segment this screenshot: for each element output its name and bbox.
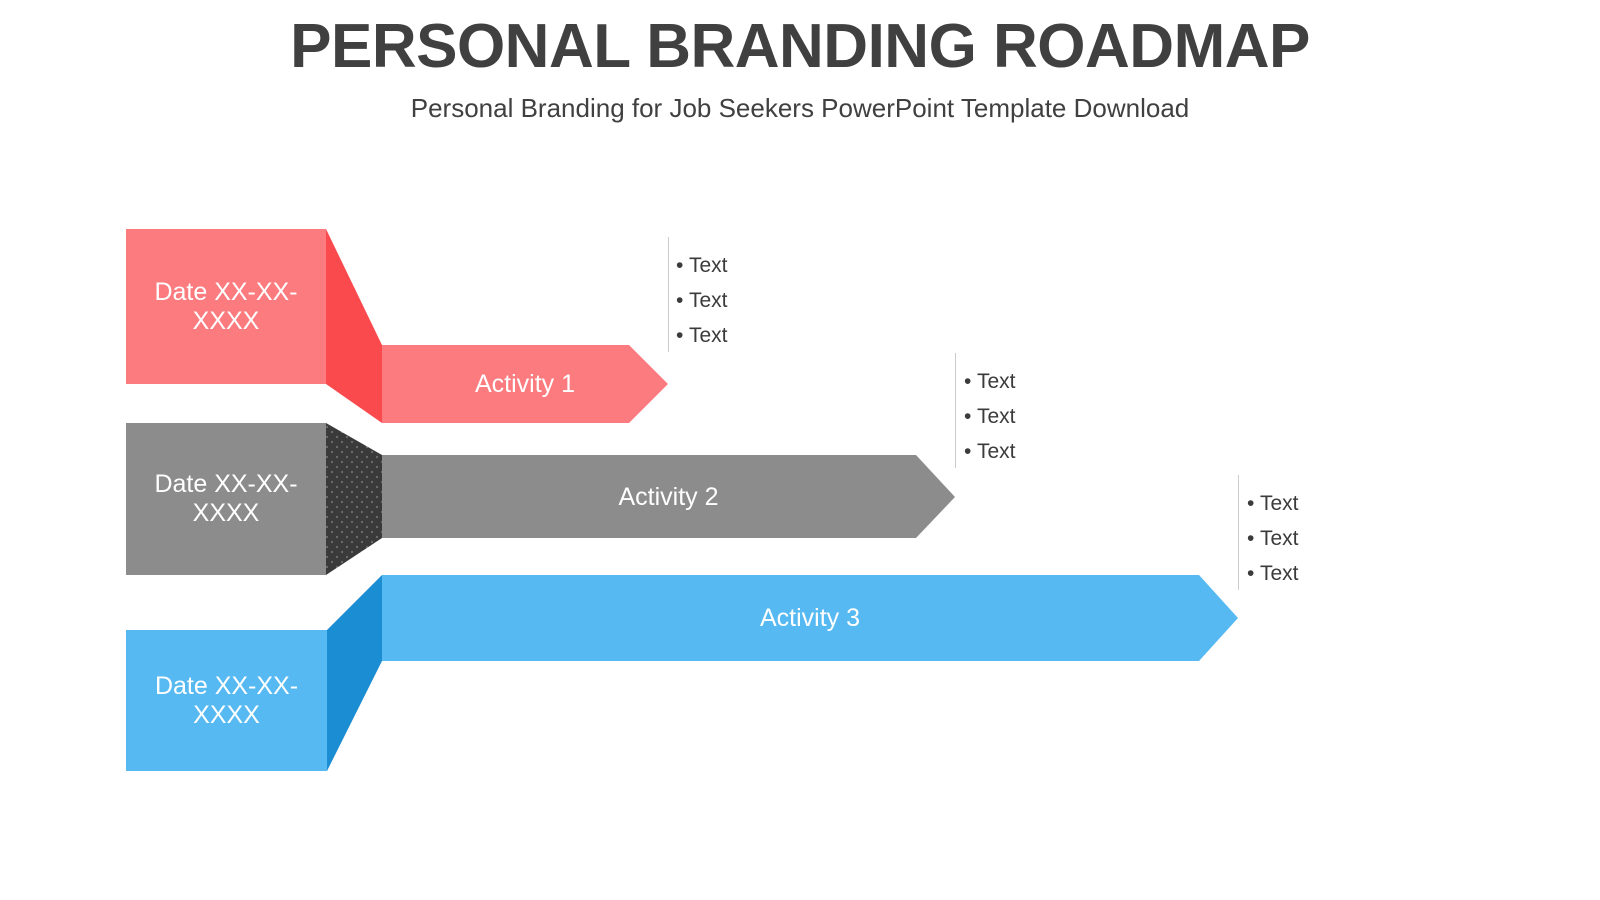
list-item: •Text — [964, 399, 1016, 434]
row-2-connector — [326, 423, 382, 575]
row-1-bullet-list: •Text •Text •Text — [676, 248, 728, 353]
list-item-label: Text — [1260, 492, 1299, 515]
row-3-activity-label: Activity 3 — [382, 575, 1238, 661]
bullet-marker-icon: • — [964, 364, 977, 399]
row-2-activity-label: Activity 2 — [382, 455, 955, 538]
list-item-label: Text — [977, 370, 1016, 393]
list-item-label: Text — [977, 405, 1016, 428]
row-3-connector — [327, 575, 382, 771]
bullet-marker-icon: • — [676, 283, 689, 318]
list-item-label: Text — [1260, 527, 1299, 550]
list-item-label: Text — [689, 289, 728, 312]
bullet-marker-icon: • — [964, 399, 977, 434]
bullet-marker-icon: • — [1247, 486, 1260, 521]
list-item: •Text — [1247, 486, 1299, 521]
row-1-date-label: Date XX-XX-XXXX — [126, 229, 326, 384]
list-item: •Text — [1247, 521, 1299, 556]
list-item-label: Text — [977, 440, 1016, 463]
bullet-marker-icon: • — [676, 248, 689, 283]
slide-canvas: PERSONAL BRANDING ROADMAP Personal Brand… — [0, 0, 1600, 900]
bullet-marker-icon: • — [1247, 521, 1260, 556]
list-item: •Text — [676, 248, 728, 283]
row-1-connector — [326, 229, 382, 423]
bullet-marker-icon: • — [676, 318, 689, 353]
row-3-bullet-list: •Text •Text •Text — [1247, 486, 1299, 591]
list-item-label: Text — [689, 324, 728, 347]
list-item-label: Text — [689, 254, 728, 277]
list-item: •Text — [676, 283, 728, 318]
bullet-marker-icon: • — [964, 434, 977, 469]
row-3-date-label: Date XX-XX-XXXX — [126, 630, 327, 771]
row-1-activity-label: Activity 1 — [382, 345, 668, 423]
list-item: •Text — [964, 434, 1016, 469]
list-item-label: Text — [1260, 562, 1299, 585]
list-item: •Text — [676, 318, 728, 353]
row-2-bullet-list: •Text •Text •Text — [964, 364, 1016, 469]
row-2-date-label: Date XX-XX-XXXX — [126, 423, 326, 575]
bullet-marker-icon: • — [1247, 556, 1260, 591]
list-item: •Text — [964, 364, 1016, 399]
list-item: •Text — [1247, 556, 1299, 591]
